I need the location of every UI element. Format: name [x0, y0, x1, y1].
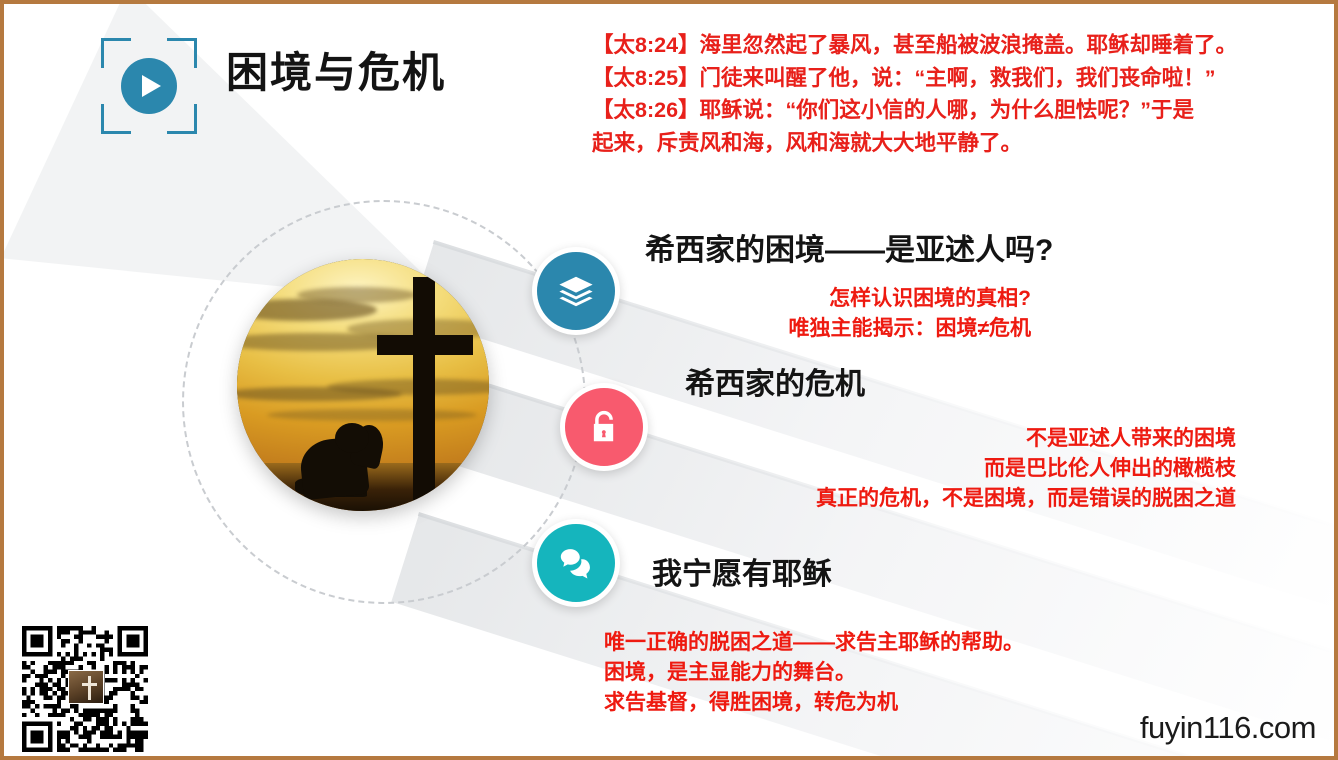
frame-corner-bl-h	[101, 131, 131, 134]
section-2-body: 不是亚述人带来的困境 而是巴比伦人伸出的橄榄枝 真正的危机，不是困境，而是错误的…	[816, 424, 1236, 515]
section-2-body-line: 而是巴比伦人伸出的橄榄枝	[816, 454, 1236, 484]
unlock-icon[interactable]	[560, 383, 648, 471]
slide-canvas: 困境与危机 【太8:24】海里忽然起了暴风，甚至船被波浪掩盖。耶稣却睡着了。 【…	[0, 0, 1338, 760]
qr-logo-cross-vertical	[88, 676, 91, 700]
qr-code-center-logo	[68, 670, 104, 704]
play-icon	[121, 58, 177, 114]
frame-corner-tr-v	[194, 38, 197, 68]
play-triangle	[142, 75, 161, 97]
section-3-heading: 我宁愿有耶稣	[652, 560, 832, 590]
section-3-body-line: 困境，是主显能力的舞台。	[604, 658, 1024, 688]
chat-bubbles-icon[interactable]	[532, 519, 620, 607]
frame-corner-tl-v	[101, 38, 104, 68]
qr-logo-cross-horizontal	[82, 683, 97, 686]
frame-corner-br-h	[167, 131, 197, 134]
section-2-body-line: 不是亚述人带来的困境	[816, 424, 1236, 454]
scripture-block: 【太8:24】海里忽然起了暴风，甚至船被波浪掩盖。耶稣却睡着了。 【太8:25】…	[592, 30, 1318, 160]
layers-icon[interactable]	[532, 247, 620, 335]
praying-person-silhouette	[295, 405, 391, 497]
cross-icon-vertical	[413, 277, 435, 509]
section-1-body: 怎样认识困境的真相? 唯独主能揭示：困境≠危机	[788, 284, 1031, 344]
scripture-line: 起来，斥责风和海，风和海就大大地平静了。	[592, 128, 1318, 159]
photo-praying-silhouette	[237, 259, 489, 511]
section-1-heading: 希西家的困境——是亚述人吗?	[645, 236, 1053, 266]
cross-icon-horizontal	[377, 335, 473, 355]
section-3-body-line: 求告基督，得胜困境，转危为机	[604, 688, 1024, 718]
section-1-body-line: 唯独主能揭示：困境≠危机	[788, 314, 1031, 344]
site-watermark: fuyin116.com	[1140, 710, 1316, 746]
frame-corner-tr-h	[167, 38, 197, 41]
photo-cloud	[297, 287, 417, 303]
section-3-body: 唯一正确的脱困之道——求告主耶稣的帮助。 困境，是主显能力的舞台。 求告基督，得…	[604, 628, 1024, 719]
scripture-line: 【太8:26】耶稣说：“你们这小信的人哪，为什么胆怯呢？”于是	[592, 95, 1318, 126]
section-1-body-line: 怎样认识困境的真相?	[788, 284, 1031, 314]
frame-corner-tl-h	[101, 38, 131, 41]
brand-frame	[101, 38, 197, 134]
section-2-body-line: 真正的危机，不是困境，而是错误的脱困之道	[816, 484, 1236, 514]
frame-corner-br-v	[194, 104, 197, 134]
section-2-heading: 希西家的危机	[685, 370, 865, 400]
page-title: 困境与危机	[226, 52, 446, 94]
section-3-body-line: 唯一正确的脱困之道——求告主耶稣的帮助。	[604, 628, 1024, 658]
frame-corner-bl-v	[101, 104, 104, 134]
scripture-line: 【太8:24】海里忽然起了暴风，甚至船被波浪掩盖。耶稣却睡着了。	[592, 30, 1318, 61]
person-head	[335, 423, 369, 453]
scripture-line: 【太8:25】门徒来叫醒了他，说：“主啊，救我们，我们丧命啦！”	[592, 63, 1318, 94]
qr-code[interactable]	[22, 626, 148, 752]
